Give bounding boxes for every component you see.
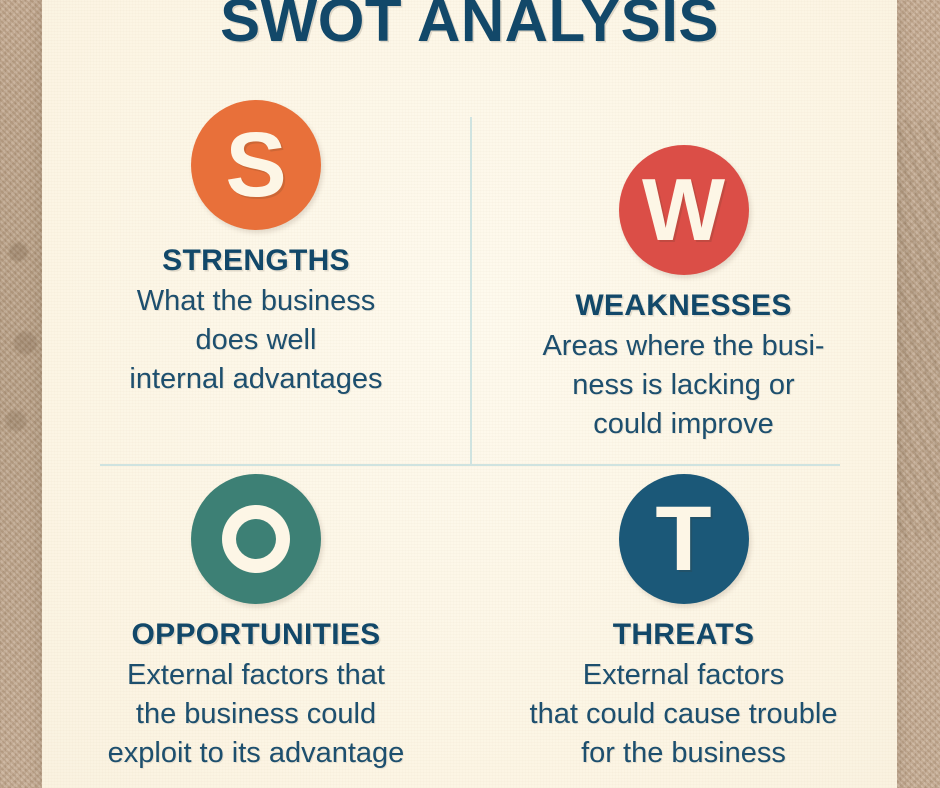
opportunities-heading: OPPORTUNITIES (132, 618, 381, 652)
weaknesses-letter: W (642, 166, 725, 254)
strengths-heading: STRENGTHS (162, 244, 350, 278)
opportunities-ring-dot (236, 519, 276, 559)
weaknesses-line-2: ness is lacking or (542, 366, 824, 405)
strengths-letter-icon: S (191, 100, 321, 230)
threats-description: External factors that could cause troubl… (530, 656, 838, 773)
strengths-line-1: What the business (129, 282, 382, 321)
threats-line-2: that could cause trouble (530, 695, 838, 734)
quadrant-grid: S STRENGTHS What the business does well … (42, 0, 897, 788)
quadrant-threats: T THREATS External factors that could ca… (470, 474, 897, 773)
threats-line-1: External factors (530, 656, 838, 695)
threats-letter-icon: T (619, 474, 749, 604)
threats-heading: THREATS (613, 618, 755, 652)
strengths-description: What the business does well internal adv… (129, 282, 382, 399)
threats-letter: T (655, 493, 711, 585)
weaknesses-line-3: could improve (542, 405, 824, 444)
opportunities-line-1: External factors that (108, 656, 405, 695)
weaknesses-line-1: Areas where the busi- (542, 327, 824, 366)
strengths-letter: S (225, 119, 286, 211)
threats-line-3: for the business (530, 734, 838, 773)
opportunities-letter-icon: O (191, 474, 321, 604)
opportunities-line-3: exploit to its advantage (108, 734, 405, 773)
strengths-line-3: internal advantages (129, 360, 382, 399)
quadrant-opportunities: O OPPORTUNITIES External factors that th… (42, 474, 470, 773)
swot-card: SWOT ANALYSIS S STRENGTHS What the busin… (42, 0, 897, 788)
weaknesses-heading: WEAKNESSES (575, 289, 791, 323)
opportunities-line-2: the business could (108, 695, 405, 734)
weaknesses-letter-icon: W (619, 145, 749, 275)
weaknesses-description: Areas where the busi- ness is lacking or… (542, 327, 824, 444)
quadrant-strengths: S STRENGTHS What the business does well … (42, 100, 470, 399)
strengths-line-2: does well (129, 321, 382, 360)
quadrant-weaknesses: W WEAKNESSES Areas where the busi- ness … (470, 145, 897, 444)
opportunities-description: External factors that the business could… (108, 656, 405, 773)
